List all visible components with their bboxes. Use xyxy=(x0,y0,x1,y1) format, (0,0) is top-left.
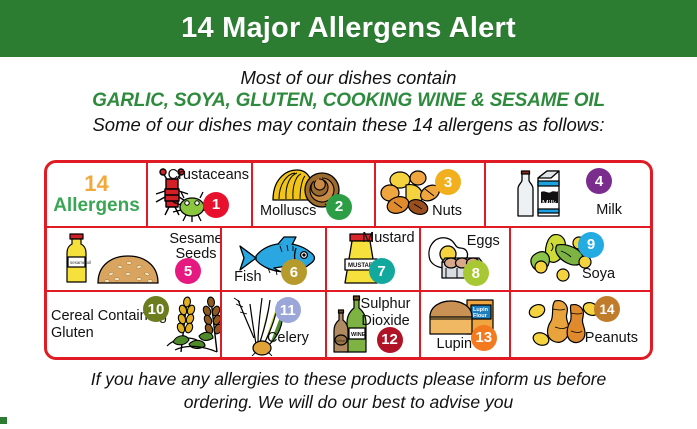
allergen-label-molluscs: Molluscs xyxy=(260,204,316,220)
allergen-poster: 14 Major Allergens Alert Most of our dis… xyxy=(0,0,697,429)
allergen-cell-fish[interactable]: Fish 6 xyxy=(222,228,327,291)
allergen-cell-cereal-gluten[interactable]: Cereal Containing Gluten 10 xyxy=(47,292,222,357)
allergen-badge-6: 6 xyxy=(281,259,307,285)
grid-title-cell: 14 Allergens xyxy=(47,163,148,226)
footer-text-block: If you have any allergies to these produ… xyxy=(0,368,697,414)
allergen-cell-peanuts[interactable]: Peanuts 14 xyxy=(511,292,650,357)
svg-text:WINE: WINE xyxy=(351,332,366,338)
allergen-badge-11: 11 xyxy=(275,297,301,323)
allergen-label-crustaceans: Crustaceans xyxy=(168,168,249,184)
allergen-label-fish: Fish xyxy=(234,270,261,286)
svg-text:Milk: Milk xyxy=(542,199,557,208)
allergen-cell-sulphur-dioxide[interactable]: WINE Wine Sulphur Dioxide 12 xyxy=(327,292,421,357)
allergen-label-lupin: Lupin xyxy=(437,337,472,353)
allergen-badge-1: 1 xyxy=(203,192,229,218)
svg-text:Flour: Flour xyxy=(473,313,488,319)
allergen-cell-sesame-seeds[interactable]: sesame oil xyxy=(47,228,222,291)
allergen-badge-2: 2 xyxy=(326,194,352,220)
allergen-label-soya: Soya xyxy=(582,267,615,283)
allergen-label-sulphur-dioxide: Sulphur Dioxide xyxy=(355,296,417,329)
allergen-label-mustard: Mustard xyxy=(362,231,414,247)
header-bar: 14 Major Allergens Alert xyxy=(0,0,697,57)
allergen-badge-3: 3 xyxy=(435,169,461,195)
page-title: 14 Major Allergens Alert xyxy=(181,14,516,43)
allergen-cell-milk[interactable]: Milk Milk 4 xyxy=(486,163,650,226)
allergen-badge-7: 7 xyxy=(369,258,395,284)
allergen-badge-13: 13 xyxy=(471,325,497,351)
allergen-label-milk: Milk xyxy=(596,203,622,219)
allergen-cell-eggs[interactable]: Eggs 8 xyxy=(421,228,511,291)
footer-line-1: If you have any allergies to these produ… xyxy=(0,368,697,391)
allergen-row-2: sesame oil xyxy=(47,228,650,293)
allergen-cell-soya[interactable]: Soya 9 xyxy=(511,228,650,291)
allergen-grid: 14 Allergens xyxy=(44,160,653,360)
allergen-badge-5: 5 xyxy=(175,258,201,284)
corner-mark xyxy=(0,417,7,424)
allergen-cell-celery[interactable]: Celery 11 xyxy=(222,292,327,357)
intro-text-block: Most of our dishes contain GARLIC, SOYA,… xyxy=(0,57,697,137)
allergen-label-peanuts: Peanuts xyxy=(585,331,638,347)
allergen-cell-lupin[interactable]: Lupin Flour Lupin 13 xyxy=(421,292,511,357)
allergen-cell-mustard[interactable]: MUSTARD Mustard 7 xyxy=(327,228,421,291)
title-word: Allergens xyxy=(53,196,140,216)
milk-bottle-carton-icon: Milk xyxy=(510,166,572,220)
allergen-cell-nuts[interactable]: Nuts 3 xyxy=(376,163,486,226)
allergen-label-celery: Celery xyxy=(267,331,309,347)
allergen-cell-crustaceans[interactable]: Crustaceans 1 xyxy=(148,163,253,226)
allergen-badge-14: 14 xyxy=(594,296,620,322)
allergen-badge-8: 8 xyxy=(463,260,489,286)
allergen-badge-9: 9 xyxy=(578,232,604,258)
intro-line-1: Most of our dishes contain xyxy=(0,66,697,89)
allergen-row-3: Cereal Containing Gluten 10 xyxy=(47,292,650,357)
allergen-label-eggs: Eggs xyxy=(467,234,500,250)
svg-text:sesame oil: sesame oil xyxy=(70,260,91,265)
svg-text:Wine: Wine xyxy=(336,338,346,343)
allergen-badge-12: 12 xyxy=(377,327,403,353)
intro-line-3: Some of our dishes may contain these 14 … xyxy=(0,113,697,136)
allergen-label-nuts: Nuts xyxy=(432,204,462,220)
allergen-badge-4: 4 xyxy=(586,168,612,194)
footer-line-2: ordering. We will do our best to advise … xyxy=(0,391,697,414)
title-number: 14 xyxy=(84,173,108,195)
allergen-row-1: 14 Allergens xyxy=(47,163,650,228)
allergen-cell-molluscs[interactable]: Molluscs 2 xyxy=(253,163,376,226)
intro-line-2-common-ingredients: GARLIC, SOYA, GLUTEN, COOKING WINE & SES… xyxy=(0,89,697,113)
